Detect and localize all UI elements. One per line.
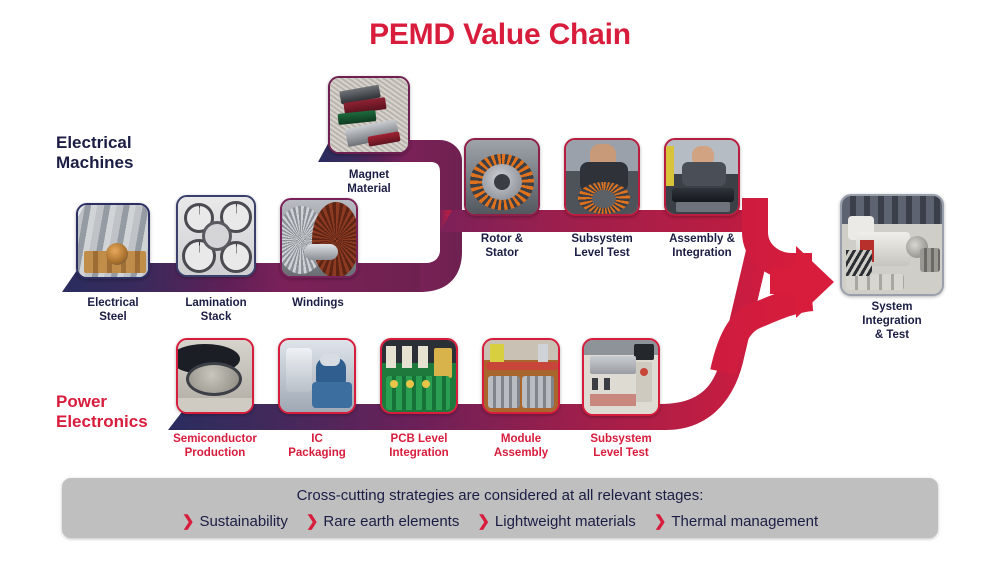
- stage-tile-system-integration-test[interactable]: [840, 194, 944, 296]
- banner-item-sustainability[interactable]: ❯ Sustainability: [182, 513, 288, 530]
- chevron-right-icon: ❯: [654, 514, 667, 529]
- chevron-right-icon: ❯: [306, 514, 319, 529]
- stage-tile-electrical-steel[interactable]: [76, 203, 150, 279]
- section-heading-electrical-machines: Electrical Machines: [56, 133, 133, 173]
- stage-caption-subsystem-level-test-em: Subsystem Level Test: [552, 232, 652, 260]
- stage-caption-ic-packaging: IC Packaging: [267, 432, 367, 460]
- stage-caption-pcb-level-integration: PCB Level Integration: [369, 432, 469, 460]
- stage-tile-semiconductor-production[interactable]: [176, 338, 254, 414]
- stage-caption-subsystem-level-test-pe: Subsystem Level Test: [571, 432, 671, 460]
- stage-caption-semiconductor-production: Semiconductor Production: [160, 432, 270, 460]
- stage-tile-magnet-material[interactable]: [328, 76, 410, 154]
- banner-item-rare-earth-elements[interactable]: ❯ Rare earth elements: [306, 513, 459, 530]
- stage-tile-assembly-integration[interactable]: [664, 138, 740, 216]
- stage-tile-subsystem-level-test-em[interactable]: [564, 138, 640, 216]
- chevron-right-icon: ❯: [182, 514, 195, 529]
- stage-tile-module-assembly[interactable]: [482, 338, 560, 414]
- stage-caption-electrical-steel: Electrical Steel: [63, 296, 163, 324]
- infographic-canvas: PEMD Value Chain: [0, 0, 1000, 563]
- stage-tile-windings[interactable]: [280, 198, 358, 278]
- banner-item-label: Thermal management: [671, 513, 818, 530]
- stage-caption-system-integration-test: System Integration & Test: [842, 300, 942, 342]
- cross-cutting-banner: Cross-cutting strategies are considered …: [62, 478, 938, 538]
- banner-items: ❯ Sustainability ❯ Rare earth elements ❯…: [62, 513, 938, 530]
- section-heading-power-electronics: Power Electronics: [56, 392, 148, 432]
- stage-tile-rotor-stator[interactable]: [464, 138, 540, 216]
- banner-item-label: Lightweight materials: [495, 513, 636, 530]
- stage-tile-subsystem-level-test-pe[interactable]: [582, 338, 660, 416]
- banner-item-label: Sustainability: [199, 513, 287, 530]
- chevron-right-icon: ❯: [477, 514, 490, 529]
- stage-caption-module-assembly: Module Assembly: [471, 432, 571, 460]
- stage-caption-rotor-stator: Rotor & Stator: [452, 232, 552, 260]
- banner-heading: Cross-cutting strategies are considered …: [62, 487, 938, 504]
- stage-caption-windings: Windings: [268, 296, 368, 310]
- banner-item-thermal-management[interactable]: ❯ Thermal management: [654, 513, 818, 530]
- banner-item-label: Rare earth elements: [323, 513, 459, 530]
- stage-tile-lamination-stack[interactable]: [176, 195, 256, 277]
- stage-tile-ic-packaging[interactable]: [278, 338, 356, 414]
- stage-caption-magnet-material: Magnet Material: [319, 168, 419, 196]
- banner-item-lightweight-materials[interactable]: ❯ Lightweight materials: [477, 513, 635, 530]
- stage-caption-lamination-stack: Lamination Stack: [166, 296, 266, 324]
- stage-tile-pcb-level-integration[interactable]: [380, 338, 458, 414]
- stage-caption-assembly-integration: Assembly & Integration: [652, 232, 752, 260]
